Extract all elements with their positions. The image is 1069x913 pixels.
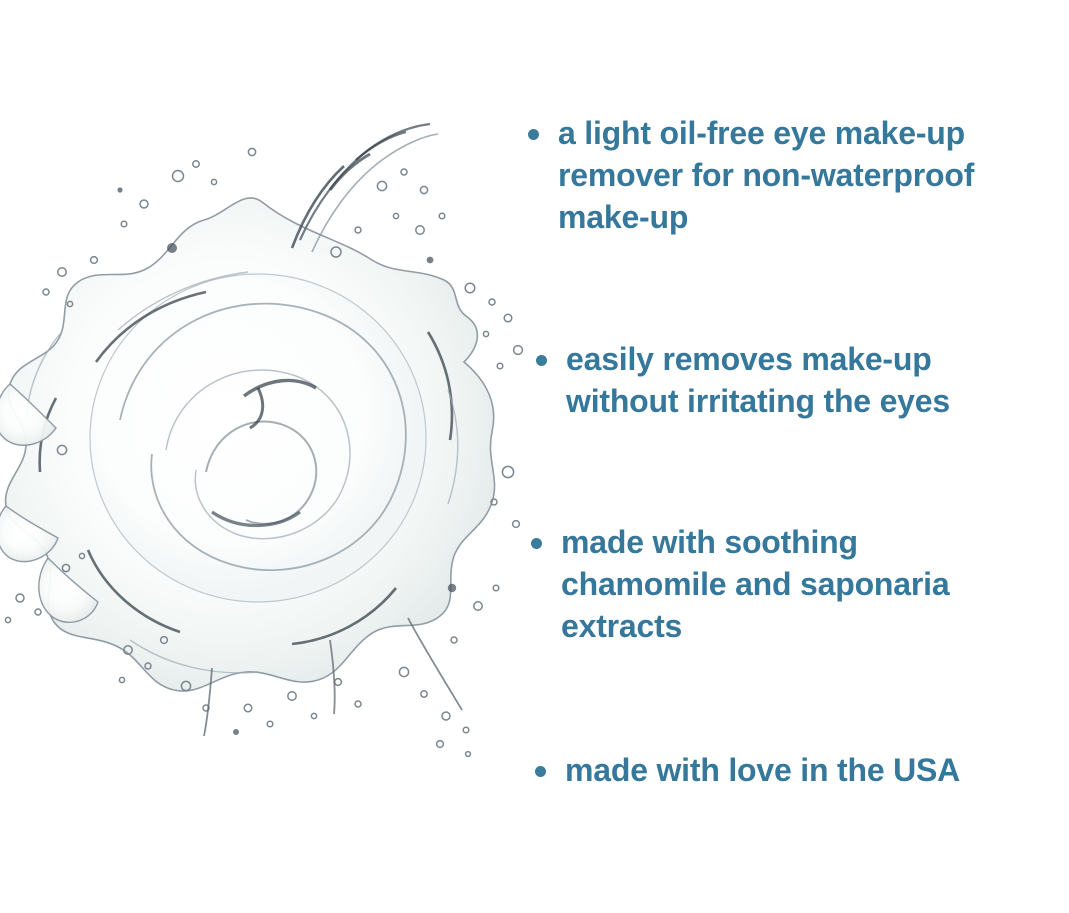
bullet-icon xyxy=(528,129,539,140)
water-splash-image xyxy=(0,120,540,780)
feature-item-4: made with love in the USA xyxy=(535,749,960,791)
bullet-icon xyxy=(535,766,546,777)
feature-text: easily removes make-up without irritatin… xyxy=(566,338,996,422)
feature-text: a light oil-free eye make-up remover for… xyxy=(558,112,974,238)
splash-vortex xyxy=(90,274,426,602)
feature-item-2: easily removes make-up without irritatin… xyxy=(536,338,996,422)
bullet-icon xyxy=(536,355,547,366)
bullet-icon xyxy=(531,538,542,549)
feature-item-3: made with soothing chamomile and saponar… xyxy=(531,521,1011,647)
product-feature-panel: a light oil-free eye make-up remover for… xyxy=(0,0,1069,913)
feature-text: made with love in the USA xyxy=(565,749,960,791)
feature-item-1: a light oil-free eye make-up remover for… xyxy=(528,112,974,238)
feature-text: made with soothing chamomile and saponar… xyxy=(561,521,1011,647)
